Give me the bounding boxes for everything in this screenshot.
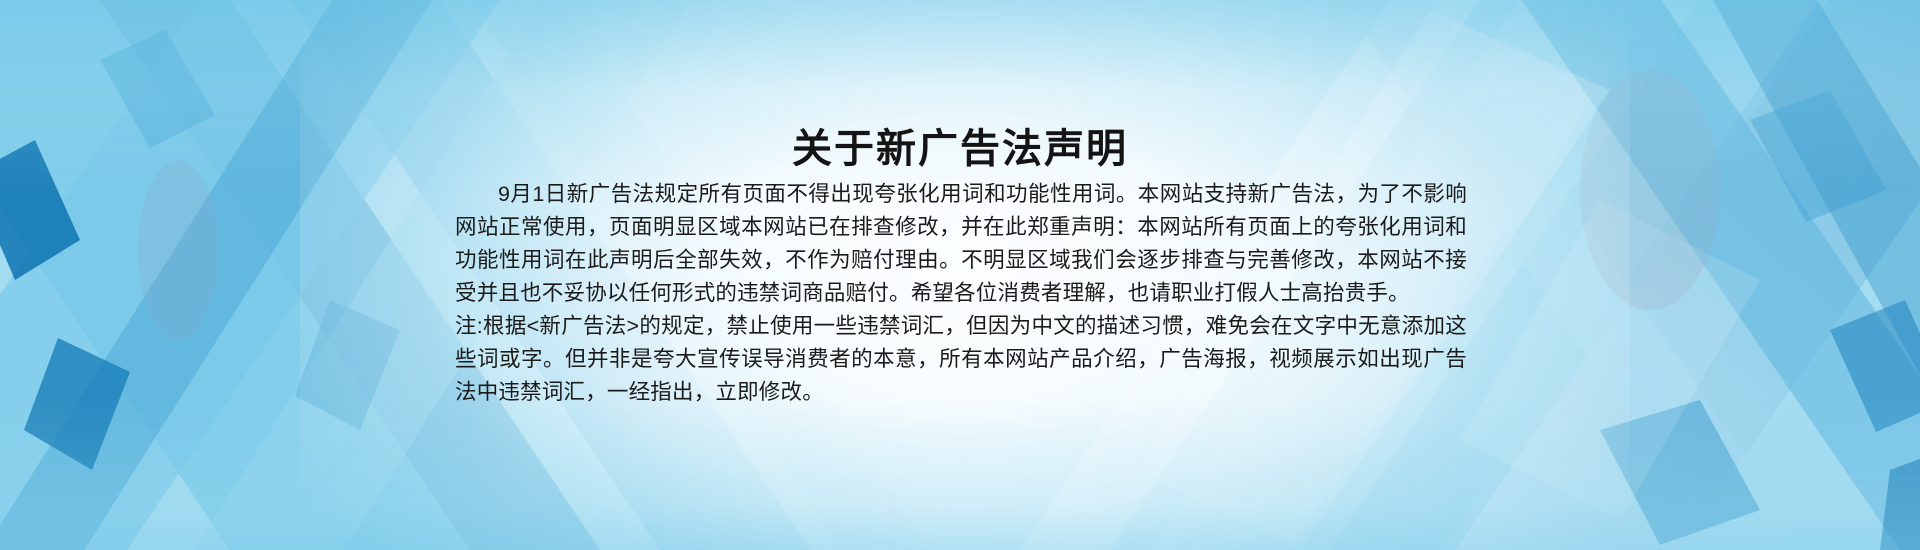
advertising-law-statement-banner: 关于新广告法声明 9月1日新广告法规定所有页面不得出现夸张化用词和功能性用词。本… (0, 0, 1920, 550)
statement-paragraph-note: 注:根据<新广告法>的规定，禁止使用一些违禁词汇，但因为中文的描述习惯，难免会在… (455, 310, 1467, 409)
banner-content: 关于新广告法声明 9月1日新广告法规定所有页面不得出现夸张化用词和功能性用词。本… (0, 0, 1920, 550)
statement-text-block: 9月1日新广告法规定所有页面不得出现夸张化用词和功能性用词。本网站支持新广告法，… (455, 178, 1467, 409)
page-title: 关于新广告法声明 (0, 116, 1920, 174)
statement-paragraph-main: 9月1日新广告法规定所有页面不得出现夸张化用词和功能性用词。本网站支持新广告法，… (455, 178, 1467, 310)
